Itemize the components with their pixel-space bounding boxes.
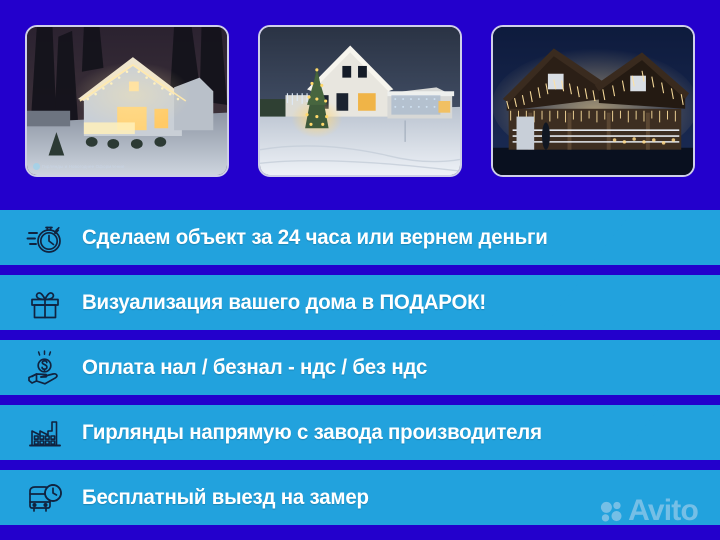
benefit-content-4: Гирлянды напрямую с завода производителя (0, 405, 720, 460)
factory-icon (22, 411, 68, 455)
promo-banner-page: { "background_color": "#2300cc", "banner… (0, 0, 720, 540)
benefit-label-4: Гирлянды напрямую с завода производителя (82, 420, 542, 445)
house-night-photo-1 (27, 27, 227, 175)
avito-logo-text: Avito (628, 496, 698, 526)
stopwatch-icon (22, 216, 68, 260)
photo-watermark-text: Гирлянды и Новогоднее Оформление (42, 164, 125, 169)
house-night-photo-3 (493, 27, 693, 175)
photo-source-watermark: Гирлянды и Новогоднее Оформление (33, 163, 125, 170)
benefit-label-1: Сделаем объект за 24 часа или вернем ден… (82, 225, 548, 250)
photo-strip: Гирлянды и Новогоднее Оформление (25, 25, 695, 177)
house-night-photo-2 (260, 27, 460, 175)
benefit-label-3: Оплата нал / безнал - ндс / без ндс (82, 355, 427, 380)
bus-clock-icon (22, 476, 68, 520)
benefits-list: Сделаем объект за 24 часа или вернем ден… (0, 210, 720, 535)
benefit-content-3: Оплата нал / безнал - ндс / без ндс (0, 340, 720, 395)
photo-thumbnail-3[interactable] (491, 25, 695, 177)
photo-thumbnail-2[interactable] (258, 25, 462, 177)
benefit-label-2: Визуализация вашего дома в ПОДАРОК! (82, 290, 486, 315)
gift-icon (22, 281, 68, 325)
avito-logo-icon (600, 500, 622, 522)
benefit-content-1: Сделаем объект за 24 часа или вернем ден… (0, 210, 720, 265)
avito-watermark: Avito (600, 496, 698, 526)
benefit-row-2[interactable]: Визуализация вашего дома в ПОДАРОК! (0, 275, 720, 330)
benefit-label-5: Бесплатный выезд на замер (82, 485, 369, 510)
benefit-content-2: Визуализация вашего дома в ПОДАРОК! (0, 275, 720, 330)
photo-thumbnail-1[interactable]: Гирлянды и Новогоднее Оформление (25, 25, 229, 177)
benefit-row-3[interactable]: Оплата нал / безнал - ндс / без ндс (0, 340, 720, 395)
benefit-row-4[interactable]: Гирлянды напрямую с завода производителя (0, 405, 720, 460)
watermark-dot-icon (33, 163, 40, 170)
cash-in-hand-icon (22, 346, 68, 390)
benefit-row-1[interactable]: Сделаем объект за 24 часа или вернем ден… (0, 210, 720, 265)
